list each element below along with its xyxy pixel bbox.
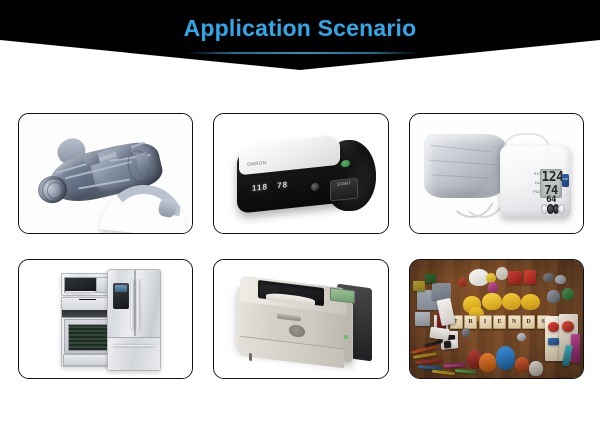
range-display (79, 299, 97, 300)
kitchen-illustration (19, 260, 192, 379)
card-turbine-engine[interactable] (18, 113, 193, 234)
toys-flatlay-image: F R I E N D S (410, 260, 583, 379)
kitchen-appliances-image (19, 260, 192, 379)
photo-vignette (410, 260, 583, 379)
omron-systolic-value: 118 (252, 182, 268, 193)
card-arm-bp-monitor[interactable]: SYS DIA PULSE 124 74 64 IHB (409, 113, 584, 234)
bp-button-row (541, 204, 562, 211)
omron-monitor-image: OMRON 118 78 START (214, 114, 387, 233)
printer-tray-slot (249, 353, 252, 362)
engine-ring (47, 182, 63, 199)
range-knob[interactable] (70, 299, 73, 300)
bp-start-button[interactable] (558, 204, 565, 213)
refrigerator-door-split (134, 270, 135, 336)
bp-systolic-value: 124 (541, 171, 560, 184)
water-ice-dispenser[interactable] (113, 283, 129, 309)
oven-door-glass (68, 324, 111, 351)
omron-start-button[interactable]: START (330, 178, 358, 202)
range-knob[interactable] (103, 299, 106, 300)
header-banner: Application Scenario (0, 0, 600, 70)
refrigerator (107, 269, 161, 371)
bp-cuff-fold (429, 160, 495, 166)
bp-cuff-fold (432, 175, 488, 179)
dispenser-display (115, 285, 127, 292)
bp-lcd-digits: 124 74 64 (541, 171, 560, 206)
omron-diastolic-value: 78 (278, 180, 289, 190)
engine-illustration (19, 114, 192, 233)
printer-illustration (214, 260, 387, 379)
arm-bp-monitor-image: SYS DIA PULSE 124 74 64 IHB (410, 114, 583, 233)
toys-illustration: F R I E N D S (410, 260, 583, 379)
bp-lcd-screen: 124 74 64 (540, 169, 561, 198)
card-grid: OMRON 118 78 START (18, 113, 584, 379)
bp-illustration: SYS DIA PULSE 124 74 64 IHB (410, 114, 583, 233)
refrigerator-freezer-drawer (108, 337, 160, 371)
bp-cuff-fold (430, 145, 491, 153)
range-knob[interactable] (65, 299, 68, 300)
turbine-engine-image (19, 114, 192, 233)
oven-door (64, 319, 114, 355)
card-omron-bp-monitor[interactable]: OMRON 118 78 START (213, 113, 388, 234)
title-accent-rule (186, 52, 420, 54)
card-laser-printer[interactable] (213, 259, 388, 380)
page-title: Application Scenario (0, 15, 600, 42)
card-kitchen-appliances[interactable] (18, 259, 193, 380)
microwave-handle (65, 291, 96, 293)
laser-printer-image (214, 260, 387, 379)
refrigerator-left-handle (131, 280, 134, 330)
bp-main-unit: SYS DIA PULSE 124 74 64 IHB (500, 145, 571, 218)
omron-illustration: OMRON 118 78 START (214, 114, 387, 233)
freezer-drawer-handle (113, 345, 155, 347)
refrigerator-right-handle (137, 280, 140, 330)
card-toys-flatlay[interactable]: F R I E N D S (409, 259, 584, 380)
bp-irregular-heartbeat-tag: IHB (562, 174, 569, 187)
